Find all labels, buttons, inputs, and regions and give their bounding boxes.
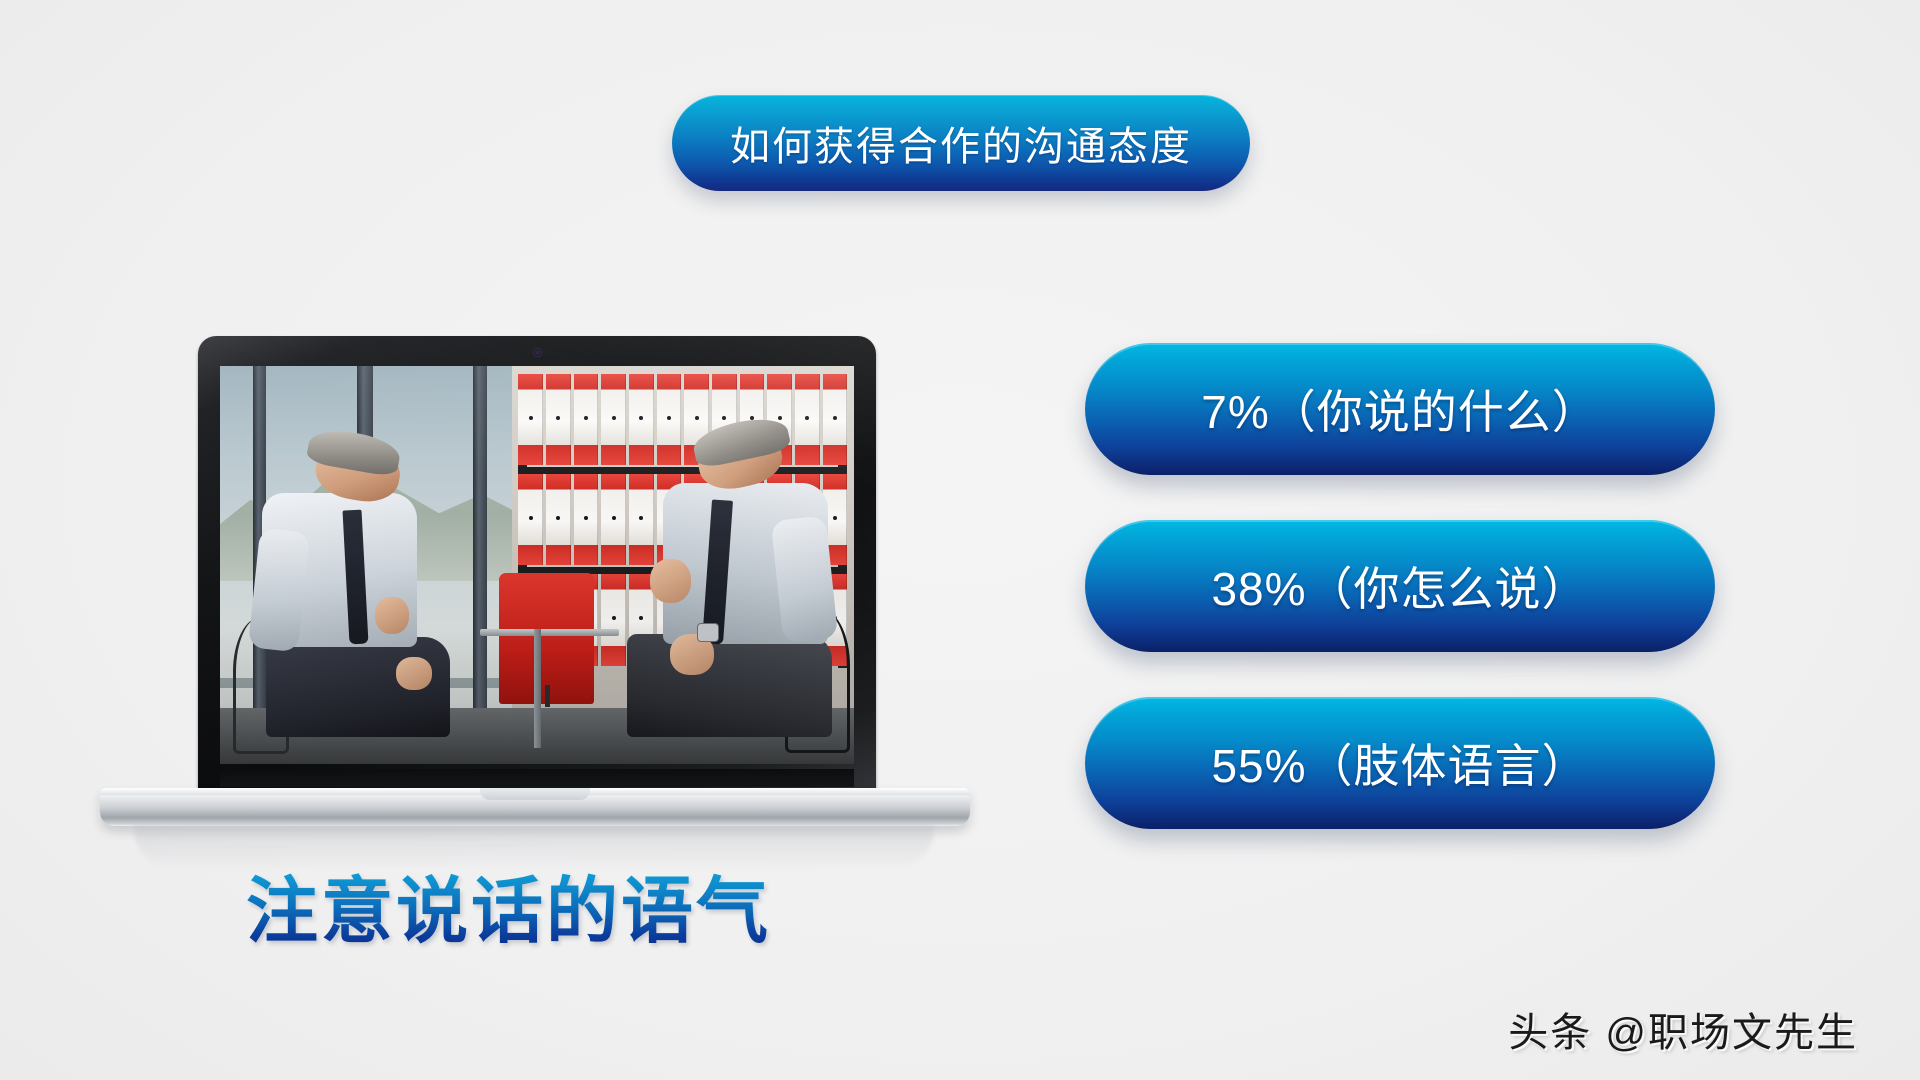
stat-pill-1[interactable]: 7%（你说的什么） bbox=[1085, 343, 1715, 475]
chair-leg bbox=[545, 685, 550, 707]
stat-pill-3[interactable]: 55%（肢体语言） bbox=[1085, 697, 1715, 829]
person-hand bbox=[396, 657, 432, 690]
red-chair bbox=[499, 573, 594, 704]
stat-pill-1-label: 7%（你说的什么） bbox=[1201, 376, 1598, 442]
window-mullion bbox=[473, 366, 487, 764]
webcam-icon bbox=[534, 349, 541, 356]
table-leg bbox=[534, 629, 541, 748]
meeting-photo bbox=[220, 366, 854, 764]
person-left bbox=[245, 430, 454, 764]
person-hand bbox=[375, 597, 408, 634]
person-arm bbox=[771, 515, 838, 643]
person-legs bbox=[627, 634, 832, 737]
wristwatch bbox=[698, 624, 719, 641]
page-title: 如何获得合作的沟通态度 bbox=[730, 114, 1192, 172]
section-headline: 注意说话的语气 bbox=[246, 852, 771, 957]
laptop-chin bbox=[220, 769, 854, 787]
side-table bbox=[480, 629, 619, 636]
stat-pill-2[interactable]: 38%（你怎么说） bbox=[1085, 520, 1715, 652]
laptop-base bbox=[100, 788, 970, 826]
laptop-screen bbox=[220, 366, 854, 764]
watermark-credit: 头条 @职场文先生 bbox=[1508, 1000, 1858, 1058]
person-hand bbox=[650, 559, 691, 603]
laptop-mockup bbox=[100, 336, 970, 836]
stat-pill-2-label: 38%（你怎么说） bbox=[1211, 553, 1588, 619]
slide-title-pill: 如何获得合作的沟通态度 bbox=[672, 95, 1250, 191]
stat-pill-3-label: 55%（肢体语言） bbox=[1211, 730, 1588, 796]
person-right bbox=[613, 422, 841, 764]
laptop-lid bbox=[198, 336, 876, 799]
laptop-front-notch bbox=[480, 788, 590, 800]
slide-canvas: 如何获得合作的沟通态度 bbox=[0, 0, 1920, 1080]
